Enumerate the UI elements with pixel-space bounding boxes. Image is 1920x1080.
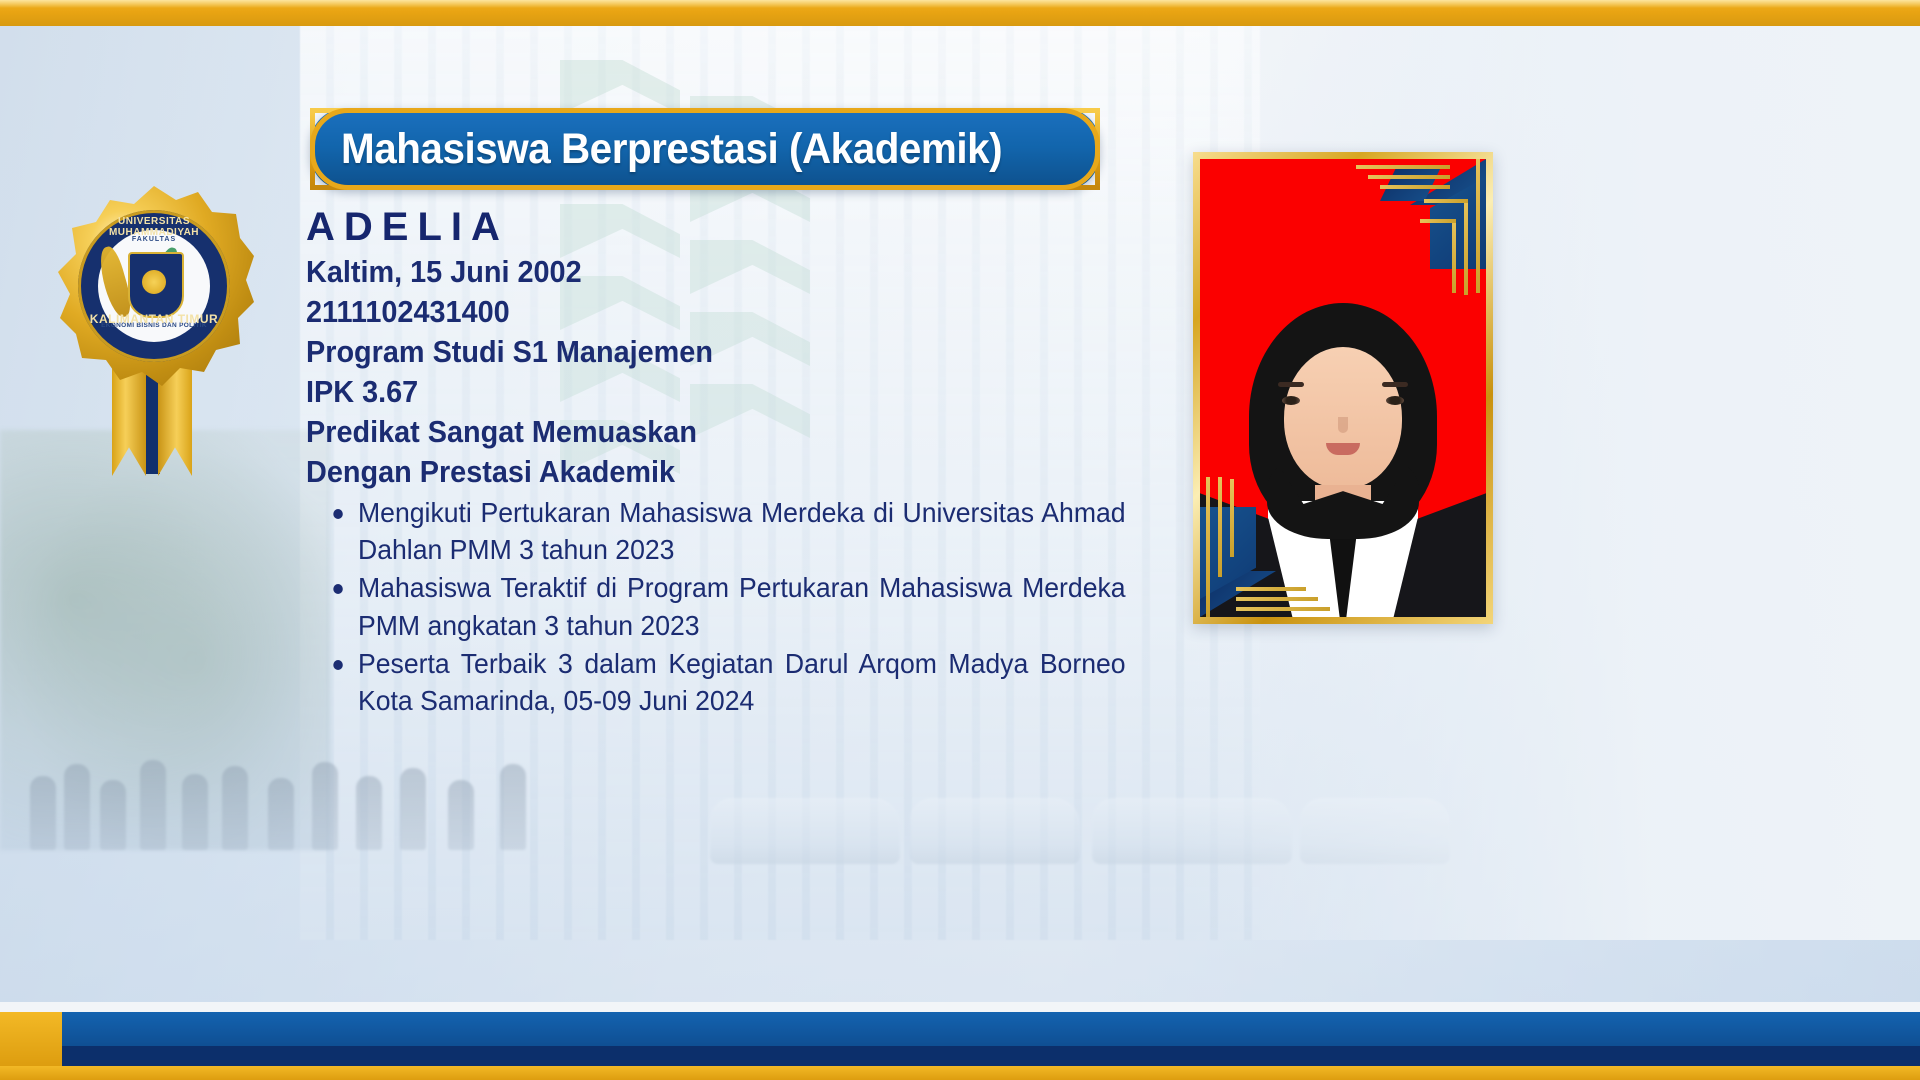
bottom-bars	[0, 1002, 1920, 1080]
university-seal-medal: UNIVERSITAS MUHAMMADIYAH FAKULTAS EKONOM…	[38, 178, 270, 498]
title-banner: Mahasiswa Berprestasi (Akademik)	[310, 108, 1100, 190]
list-item: Mengikuti Pertukaran Mahasiswa Merdeka d…	[358, 494, 1126, 568]
student-predicate: Predikat Sangat Memuaskan	[306, 412, 1106, 452]
student-gpa: IPK 3.67	[306, 372, 1106, 412]
portrait-nose	[1338, 417, 1348, 433]
list-item: Mahasiswa Teraktif di Program Pertukaran…	[358, 569, 1126, 643]
deco-corner-top-right	[1356, 159, 1486, 299]
student-birth: Kaltim, 15 Juni 2002	[306, 252, 1106, 292]
student-id: 2111102431400	[306, 292, 1106, 332]
seal-top-text: UNIVERSITAS MUHAMMADIYAH	[78, 216, 230, 238]
student-photo-frame	[1193, 152, 1493, 624]
student-photo	[1200, 159, 1486, 617]
page-title: Mahasiswa Berprestasi (Akademik)	[341, 125, 1002, 174]
top-gold-bar	[0, 0, 1920, 26]
student-award-type: Dengan Prestasi Akademik	[306, 452, 1106, 492]
deco-corner-bottom-left	[1200, 467, 1330, 617]
seal-badge: UNIVERSITAS MUHAMMADIYAH FAKULTAS EKONOM…	[54, 186, 254, 386]
seal-faculty-top-text: FAKULTAS	[78, 236, 230, 243]
list-item: Peserta Terbaik 3 dalam Kegiatan Darul A…	[358, 645, 1126, 719]
achievement-list: Mengikuti Pertukaran Mahasiswa Merdeka d…	[306, 494, 1166, 719]
portrait-eye-right	[1386, 396, 1404, 405]
portrait-eye-left	[1282, 396, 1300, 405]
student-program: Program Studi S1 Manajemen	[306, 332, 1106, 372]
student-name: ADELIA	[306, 206, 1166, 248]
poster-root: UNIVERSITAS MUHAMMADIYAH FAKULTAS EKONOM…	[0, 0, 1920, 1080]
portrait-brow-left	[1278, 382, 1304, 387]
student-info-block: ADELIA Kaltim, 15 Juni 2002 211110243140…	[306, 206, 1166, 720]
portrait-brow-right	[1382, 382, 1408, 387]
seal-bottom-text: KALIMANTAN TIMUR	[78, 312, 230, 326]
